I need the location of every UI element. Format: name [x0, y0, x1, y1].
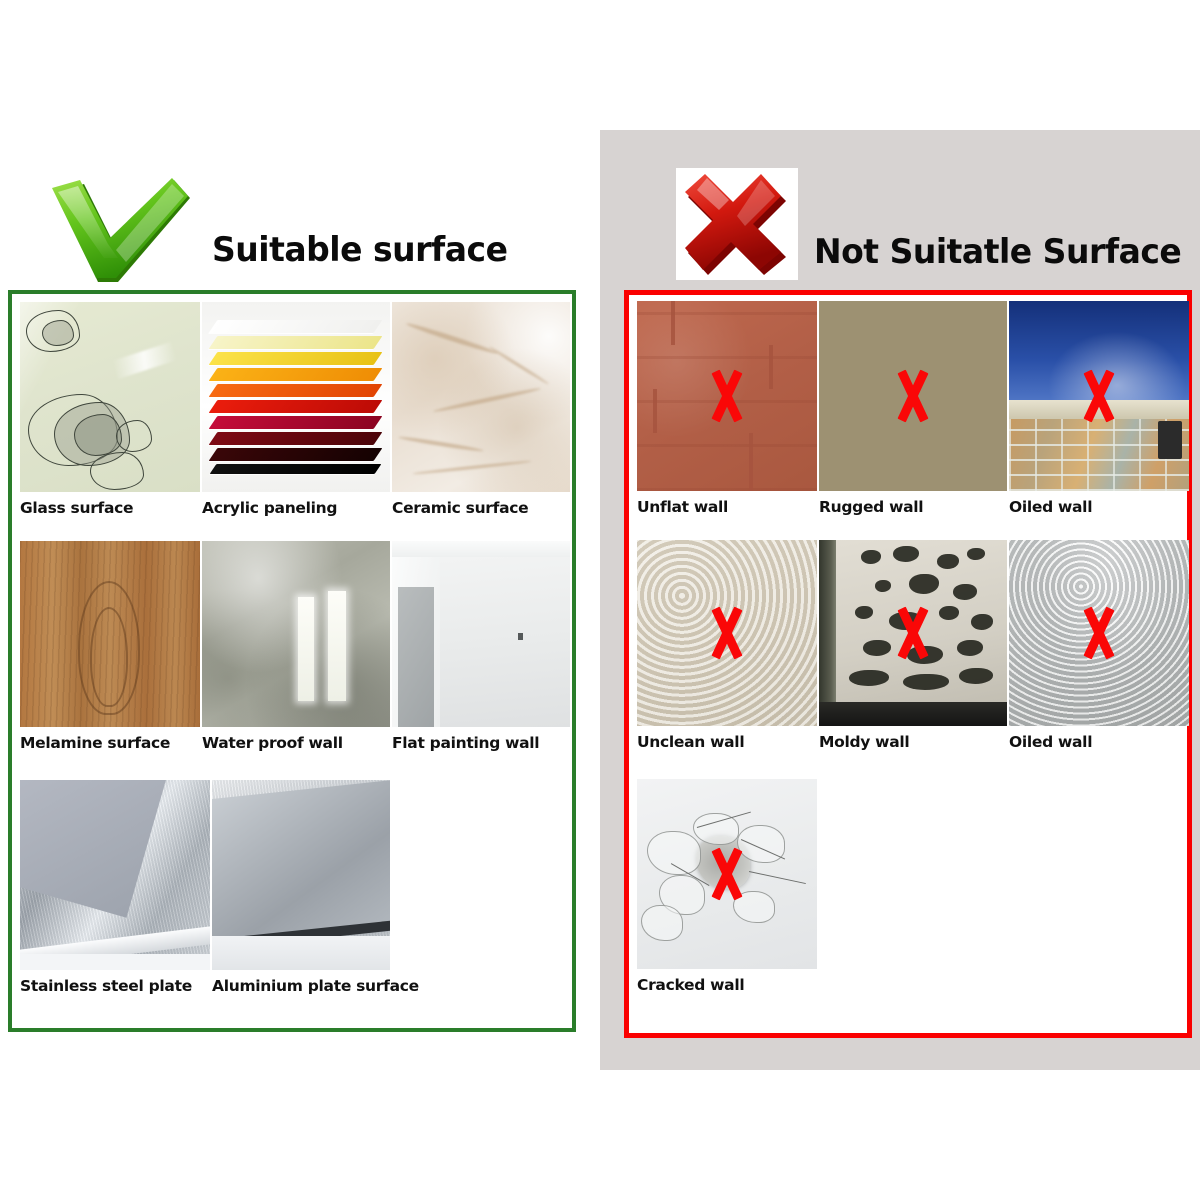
not-suitable-row-1: Unflat wall Rugged wall Oiled wall — [637, 301, 1191, 516]
x-overlay-mark — [1076, 606, 1122, 660]
tile-label: Oiled wall — [1009, 726, 1191, 751]
flat-painting-wall-photo — [392, 541, 570, 727]
tile-label: Moldy wall — [819, 726, 1009, 751]
tile-label: Water proof wall — [202, 727, 392, 752]
suitable-row-2: Melamine surface Water proof wall — [20, 541, 574, 752]
petal-shape — [116, 420, 152, 452]
water-proof-wall-photo — [202, 541, 390, 727]
oiled-wall-photo-2 — [1009, 540, 1189, 726]
not-suitable-row-2: Unclean wall — [637, 540, 1191, 751]
tile-aluminium-plate-surface: Aluminium plate surface — [212, 780, 394, 995]
moldy-wall-photo — [819, 540, 1007, 726]
page-title-suitable: Suitable surface — [212, 230, 507, 270]
glass-glint — [112, 342, 176, 379]
tile-label: Acrylic paneling — [202, 492, 392, 517]
tile-acrylic-paneling: Acrylic paneling — [202, 302, 392, 517]
tile-unflat-wall: Unflat wall — [637, 301, 819, 516]
suitable-surface-panel: Suitable surface Glass surf — [0, 0, 600, 1200]
tile-label: Cracked wall — [637, 969, 819, 994]
green-check-icon — [48, 178, 196, 286]
tile-moldy-wall: Moldy wall — [819, 540, 1009, 751]
unflat-wall-photo — [637, 301, 817, 491]
acrylic-paneling-photo — [202, 302, 390, 492]
tile-glass-surface: Glass surface — [20, 302, 202, 517]
petal-shape — [74, 414, 122, 456]
tile-melamine-surface: Melamine surface — [20, 541, 202, 752]
not-suitable-grid-box: Unflat wall Rugged wall Oiled wall — [624, 290, 1192, 1038]
wall-mark — [518, 633, 523, 640]
stainless-steel-plate-photo — [20, 780, 210, 970]
oiled-wall-photo-1 — [1009, 301, 1189, 491]
tile-unclean-wall: Unclean wall — [637, 540, 819, 751]
suitable-row-1: Glass surface Acryl — [20, 302, 574, 517]
tile-label: Ceramic surface — [392, 492, 574, 517]
tile-label: Unflat wall — [637, 491, 819, 516]
ceramic-surface-photo — [392, 302, 570, 492]
red-x-icon — [676, 168, 798, 280]
plate-base — [20, 954, 210, 970]
x-overlay-mark — [704, 369, 750, 423]
rugged-wall-photo — [819, 301, 1007, 491]
tile-water-proof-wall: Water proof wall — [202, 541, 392, 752]
suitable-header: Suitable surface — [48, 178, 517, 286]
x-overlay-mark — [704, 606, 750, 660]
not-suitable-header: Not Suitatle Surface — [676, 168, 1193, 280]
tile-label: Oiled wall — [1009, 491, 1191, 516]
tile-label: Flat painting wall — [392, 727, 574, 752]
suitable-row-3: Stainless steel plate Aluminium plate su… — [20, 780, 394, 995]
tile-flat-painting-wall: Flat painting wall — [392, 541, 574, 752]
melamine-surface-photo — [20, 541, 200, 727]
cracked-wall-photo — [637, 779, 817, 969]
tile-oiled-wall-1: Oiled wall — [1009, 301, 1191, 516]
suitable-grid-box: Glass surface Acryl — [8, 290, 576, 1032]
tile-label: Glass surface — [20, 492, 202, 517]
tile-stainless-steel-plate: Stainless steel plate — [20, 780, 212, 995]
ceiling-edge — [392, 541, 570, 557]
tile-oiled-wall-2: Oiled wall — [1009, 540, 1191, 751]
doorway-opening — [398, 587, 434, 727]
petal-shape — [42, 320, 74, 346]
plate-corner — [20, 780, 168, 918]
tile-ceramic-surface: Ceramic surface — [392, 302, 574, 517]
x-overlay-mark — [890, 369, 936, 423]
tile-label: Unclean wall — [637, 726, 819, 751]
glass-surface-photo — [20, 302, 200, 492]
tile-cracked-wall: Cracked wall — [637, 779, 819, 994]
tile-label: Aluminium plate surface — [212, 970, 394, 995]
not-suitable-row-3: Cracked wall — [637, 779, 819, 994]
tile-label: Rugged wall — [819, 491, 1009, 516]
tile-label: Melamine surface — [20, 727, 202, 752]
page-title-not-suitable: Not Suitatle Surface — [814, 232, 1181, 272]
unclean-wall-photo — [637, 540, 817, 726]
petal-shape — [90, 452, 144, 490]
tile-label: Stainless steel plate — [20, 970, 212, 995]
plate-base — [212, 936, 390, 970]
aluminium-plate-surface-photo — [212, 780, 390, 970]
tile-rugged-wall: Rugged wall — [819, 301, 1009, 516]
